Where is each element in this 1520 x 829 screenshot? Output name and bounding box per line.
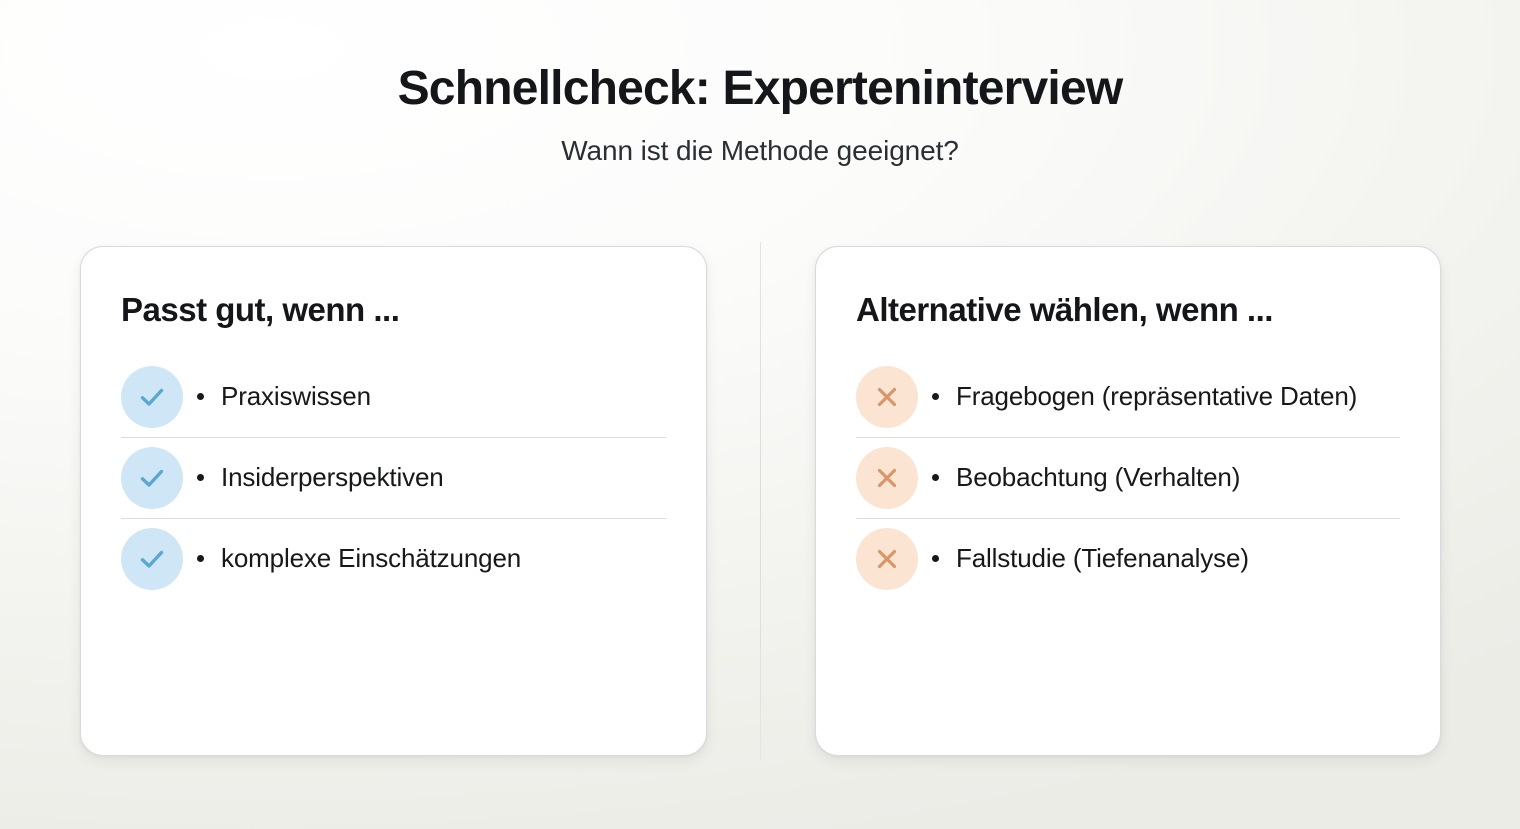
- page-subtitle: Wann ist die Methode geeignet?: [0, 135, 1520, 167]
- list-item: Insiderperspektiven: [121, 438, 666, 518]
- list-item: Fragebogen (repräsentative Daten): [856, 357, 1400, 437]
- bullet-icon: [197, 393, 204, 400]
- cross-circle-icon: [856, 447, 918, 509]
- card-alternative: Alternative wählen, wenn ... Fragebogen …: [815, 246, 1441, 756]
- slide-header: Schnellcheck: Experteninterview Wann ist…: [0, 62, 1520, 167]
- bullet-icon: [932, 555, 939, 562]
- bullet-icon: [932, 393, 939, 400]
- card-fit-list: Praxiswissen Insiderperspektiven: [121, 357, 666, 599]
- list-item-label: Praxiswissen: [221, 379, 371, 415]
- list-item-label: Fallstudie (Tiefenanalyse): [956, 541, 1249, 577]
- bullet-icon: [197, 555, 204, 562]
- cross-circle-icon: [856, 528, 918, 590]
- page-title: Schnellcheck: Experteninterview: [0, 62, 1520, 116]
- card-alternative-heading: Alternative wählen, wenn ...: [856, 291, 1400, 329]
- bullet-icon: [197, 474, 204, 481]
- list-item: komplexe Einschätzungen: [121, 519, 666, 599]
- check-circle-icon: [121, 366, 183, 428]
- list-item: Fallstudie (Tiefenanalyse): [856, 519, 1400, 599]
- list-item: Praxiswissen: [121, 357, 666, 437]
- card-fit-heading: Passt gut, wenn ...: [121, 291, 666, 329]
- check-circle-icon: [121, 528, 183, 590]
- column-divider: [760, 242, 761, 760]
- cross-circle-icon: [856, 366, 918, 428]
- comparison-columns: Passt gut, wenn ... Praxiswissen: [80, 246, 1441, 756]
- check-circle-icon: [121, 447, 183, 509]
- bullet-icon: [932, 474, 939, 481]
- list-item-label: Fragebogen (repräsentative Daten): [956, 379, 1357, 415]
- card-alternative-list: Fragebogen (repräsentative Daten) Beobac…: [856, 357, 1400, 599]
- list-item-label: komplexe Einschätzungen: [221, 541, 521, 577]
- list-item-label: Insiderperspektiven: [221, 460, 444, 496]
- list-item-label: Beobachtung (Verhalten): [956, 460, 1240, 496]
- card-fit: Passt gut, wenn ... Praxiswissen: [80, 246, 707, 756]
- list-item: Beobachtung (Verhalten): [856, 438, 1400, 518]
